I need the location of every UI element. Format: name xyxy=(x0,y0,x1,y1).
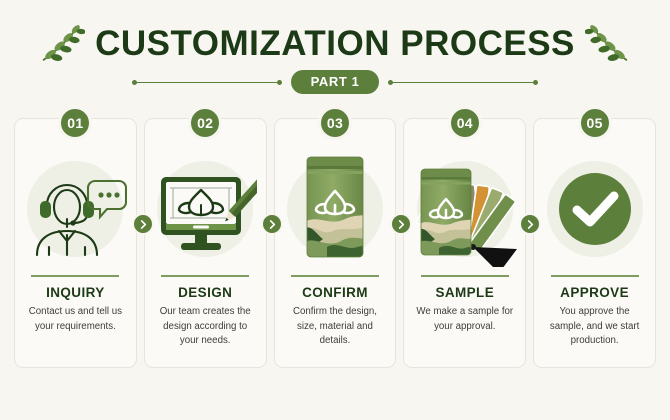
step-title: INQUIRY xyxy=(46,286,105,301)
step-description: Our team creates the design according to… xyxy=(146,300,264,347)
header: CUSTOMIZATION PROCESS PART 1 xyxy=(0,0,670,100)
pouch-with-color-swatch-fan-icon xyxy=(407,151,523,267)
step-number-badge: 03 xyxy=(318,106,352,140)
step-illustration xyxy=(536,149,654,269)
step-number-badge: 01 xyxy=(58,106,92,140)
step-card-confirm[interactable]: 03 xyxy=(274,118,397,368)
chevron-right-icon xyxy=(526,220,535,229)
card-divider xyxy=(421,275,509,277)
card-divider xyxy=(291,275,379,277)
step-description: Contact us and tell us your requirements… xyxy=(16,300,134,333)
chevron-right-icon xyxy=(397,220,406,229)
part-badge: PART 1 xyxy=(291,70,380,94)
check-circle-icon xyxy=(543,157,647,261)
headset-operator-icon xyxy=(23,157,127,261)
step-description: Confirm the design, size, material and d… xyxy=(276,300,394,347)
step-title: DESIGN xyxy=(178,286,232,301)
step-description: We make a sample for your approval. xyxy=(406,300,524,333)
connector-arrow-3[interactable] xyxy=(390,213,412,235)
olive-branch-left-icon xyxy=(39,21,85,65)
step-illustration xyxy=(276,149,394,269)
divider-line-right xyxy=(389,82,537,83)
step-card-design[interactable]: 02 xyxy=(144,118,267,368)
step-illustration xyxy=(16,149,134,269)
connector-arrow-4[interactable] xyxy=(519,213,541,235)
step-number-badge: 04 xyxy=(448,106,482,140)
step-title: CONFIRM xyxy=(302,286,368,301)
step-card-inquiry[interactable]: 01 xyxy=(14,118,137,368)
step-number-badge: 02 xyxy=(188,106,222,140)
infographic-canvas: CUSTOMIZATION PROCESS PART 1 xyxy=(0,0,670,420)
card-divider xyxy=(161,275,249,277)
steps-container: 01 xyxy=(14,118,656,368)
connector-arrow-2[interactable] xyxy=(261,213,283,235)
olive-branch-right-icon xyxy=(585,21,631,65)
chevron-right-icon xyxy=(139,220,148,229)
monitor-design-pencil-icon xyxy=(153,157,257,261)
step-description: You approve the sample, and we start pro… xyxy=(536,300,654,347)
part-divider-row: PART 1 xyxy=(0,70,670,94)
step-illustration xyxy=(406,149,524,269)
step-title: SAMPLE xyxy=(435,286,494,301)
connector-arrow-1[interactable] xyxy=(132,213,154,235)
card-divider xyxy=(31,275,119,277)
step-card-sample[interactable]: 04 xyxy=(403,118,526,368)
title-row: CUSTOMIZATION PROCESS xyxy=(0,20,670,66)
stand-up-pouch-icon xyxy=(283,151,387,267)
step-card-approve[interactable]: 05 APPROVE You approve the sample, and w… xyxy=(533,118,656,368)
step-title: APPROVE xyxy=(560,286,629,301)
card-divider xyxy=(551,275,639,277)
divider-line-left xyxy=(133,82,281,83)
step-illustration xyxy=(146,149,264,269)
chevron-right-icon xyxy=(268,220,277,229)
step-number-badge: 05 xyxy=(578,106,612,140)
page-title: CUSTOMIZATION PROCESS xyxy=(95,26,575,61)
